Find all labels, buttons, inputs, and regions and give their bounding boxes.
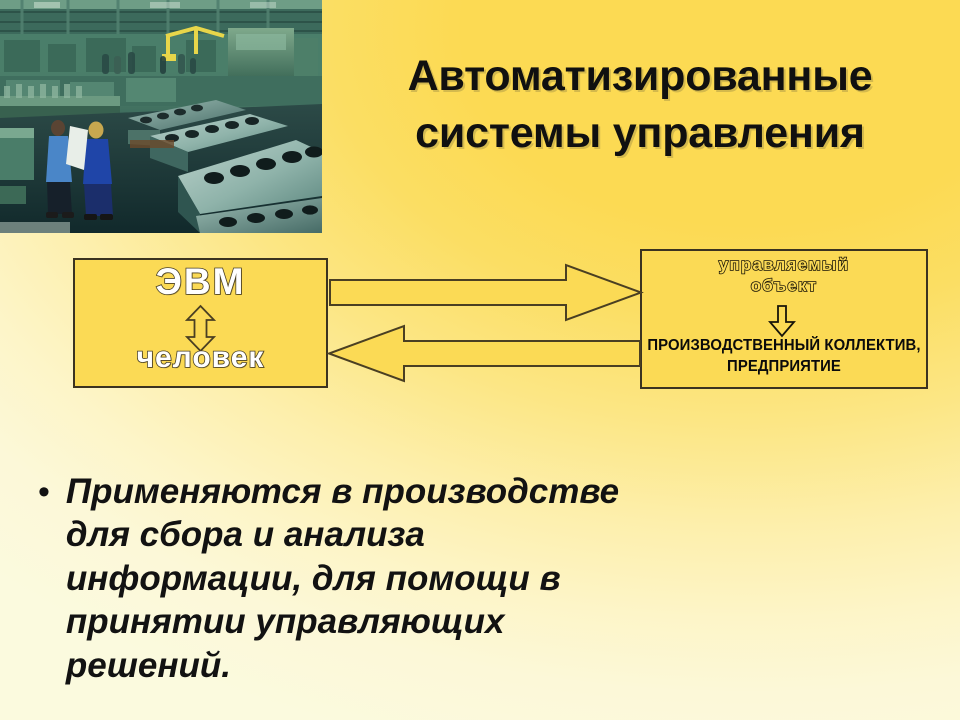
arrow-left-icon — [329, 326, 640, 381]
label-production-collective-line1: ПРОИЗВОДСТВЕННЫЙ КОЛЛЕКТИВ, — [647, 337, 920, 354]
label-controlled-object-line2: объект — [640, 277, 928, 294]
page-title: Автоматизированные системы управления — [330, 48, 950, 162]
label-production-collective: ПРОИЗВОДСТВЕННЫЙ КОЛЛЕКТИВ, ПРЕДПРИЯТИЕ — [646, 336, 922, 378]
label-controlled-object: управляемый объект — [640, 256, 928, 294]
label-evm: ЭВМ — [73, 263, 328, 300]
bullet-list-item: • Применяются в производстве для сбора и… — [38, 470, 918, 687]
label-production-collective-line2: ПРЕДПРИЯТИЕ — [646, 357, 922, 378]
arrow-right-icon — [330, 265, 641, 320]
bullet-text: Применяются в производстве для сбора и а… — [66, 470, 666, 687]
factory-photo-illustration — [0, 0, 322, 233]
label-human: человек — [73, 343, 328, 373]
bullet-marker: • — [38, 470, 50, 512]
slide-canvas: Автоматизированные системы управления ЭВ… — [0, 0, 960, 720]
label-controlled-object-line1: управляемый — [719, 255, 849, 274]
factory-floor-photograph — [0, 0, 322, 233]
